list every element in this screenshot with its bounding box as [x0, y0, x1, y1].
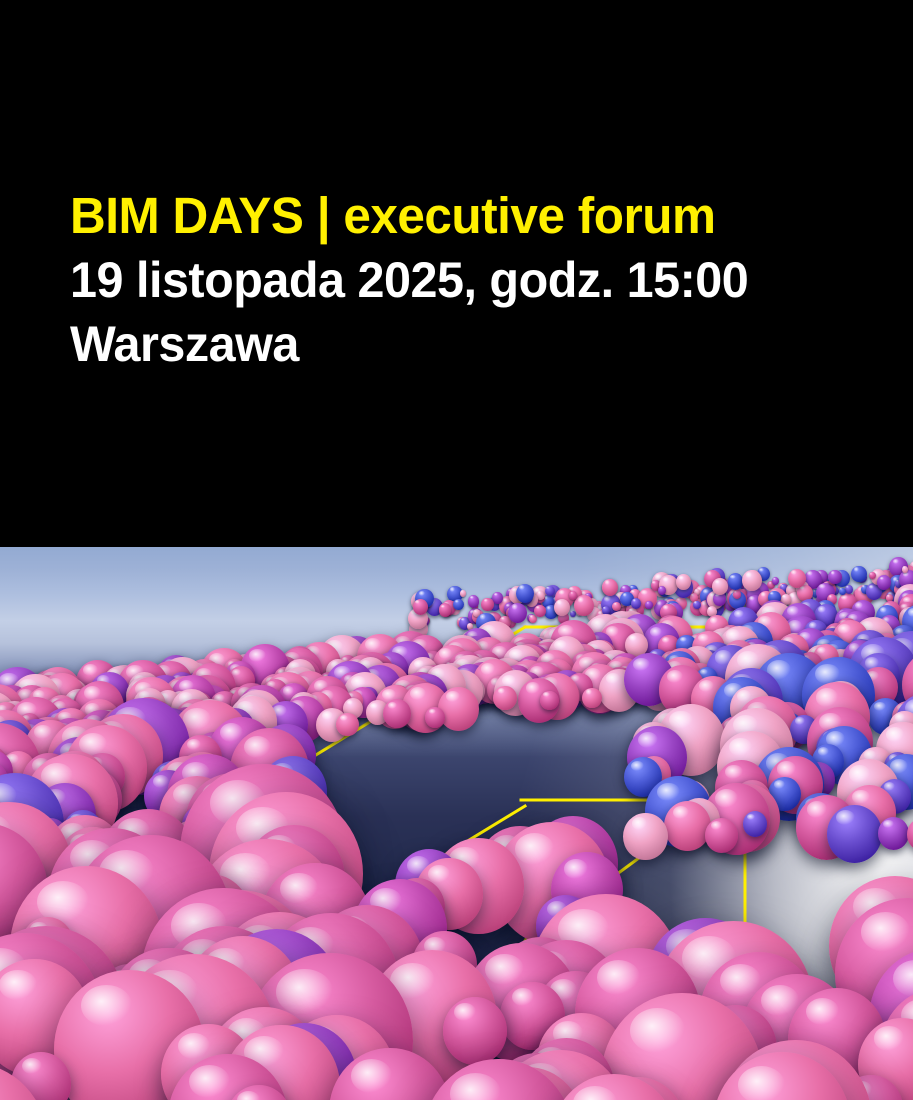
sphere — [582, 688, 602, 709]
sphere — [425, 707, 445, 728]
sphere — [540, 691, 559, 711]
sphere — [827, 805, 882, 864]
sphere — [869, 572, 876, 579]
title-block: BIM DAYS | executive forum 19 listopada … — [70, 190, 870, 369]
sphere — [631, 598, 641, 608]
sphere — [645, 601, 652, 609]
sphere — [705, 818, 738, 853]
sphere — [439, 603, 452, 617]
sphere — [623, 813, 668, 860]
sphere — [383, 699, 410, 728]
sphere — [413, 599, 428, 615]
poster-header: BIM DAYS | executive forum 19 listopada … — [0, 0, 913, 547]
page-title: BIM DAYS | executive forum — [70, 190, 846, 255]
sphere — [481, 598, 493, 611]
sphere — [569, 591, 577, 599]
sphere — [453, 599, 464, 610]
sphere — [828, 570, 842, 584]
event-date: 19 listopada 2025, godz. 15:00 — [70, 255, 846, 319]
sphere — [492, 592, 503, 603]
sphere — [851, 566, 866, 582]
sphere — [438, 687, 479, 731]
sphere — [878, 817, 909, 850]
sphere — [545, 586, 555, 596]
sphere — [468, 595, 480, 607]
sphere — [907, 818, 913, 850]
sphere — [493, 686, 516, 711]
sphere — [712, 578, 728, 595]
sphere — [554, 599, 570, 616]
sphere — [508, 603, 527, 623]
sphere — [336, 713, 358, 737]
sphere — [612, 602, 621, 611]
sphere — [788, 569, 806, 588]
event-city: Warszawa — [70, 319, 846, 369]
sphere — [516, 584, 534, 603]
sphere — [664, 801, 711, 851]
artwork-image — [0, 547, 913, 1100]
poster-root: BIM DAYS | executive forum 19 listopada … — [0, 0, 913, 1100]
sphere — [877, 575, 891, 590]
sphere — [460, 590, 467, 597]
sphere — [728, 573, 743, 589]
sphere — [742, 570, 762, 591]
